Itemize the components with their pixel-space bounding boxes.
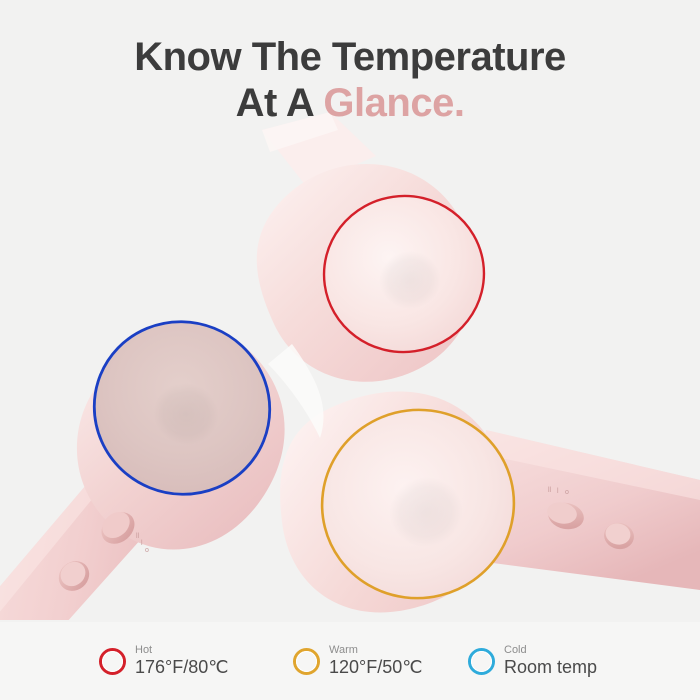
headline-line-2-prefix: At A — [236, 81, 324, 125]
legend-item-hot: Hot 176°F/80℃ — [99, 645, 228, 677]
legend-caption-cold: Cold — [504, 645, 597, 657]
hot-ring-icon — [99, 648, 126, 675]
svg-text:ll: ll — [548, 487, 552, 494]
legend-caption-hot: Hot — [135, 645, 228, 657]
warm-ring-icon — [293, 648, 320, 675]
legend-caption-warm: Warm — [329, 645, 422, 657]
legend-value-hot: 176°F/80℃ — [135, 658, 228, 677]
headline-line-1: Know The Temperature — [134, 35, 566, 79]
dryer-unit-cold: lllo — [0, 295, 296, 620]
dryer-unit-warm: lllo — [280, 390, 700, 619]
promo-image: Know The Temperature At A Glance. — [0, 0, 700, 700]
dryer-unit-hot — [257, 112, 494, 382]
svg-text:ll: ll — [136, 533, 140, 540]
headline-line-2: At A Glance. — [0, 80, 700, 126]
headline-accent-word: Glance. — [323, 81, 464, 125]
legend-value-cold: Room temp — [504, 658, 597, 677]
product-photo: lllo — [0, 108, 700, 620]
legend-item-cold: Cold Room temp — [468, 645, 597, 677]
legend-value-warm: 120°F/50℃ — [329, 658, 422, 677]
page-title: Know The Temperature At A Glance. — [0, 34, 700, 127]
cold-ring-icon — [468, 648, 495, 675]
legend-item-warm: Warm 120°F/50℃ — [293, 645, 422, 677]
svg-text:o: o — [565, 489, 569, 496]
temperature-legend: Hot 176°F/80℃ Warm 120°F/50℃ Cold Room t… — [0, 622, 700, 700]
svg-text:o: o — [145, 547, 149, 554]
